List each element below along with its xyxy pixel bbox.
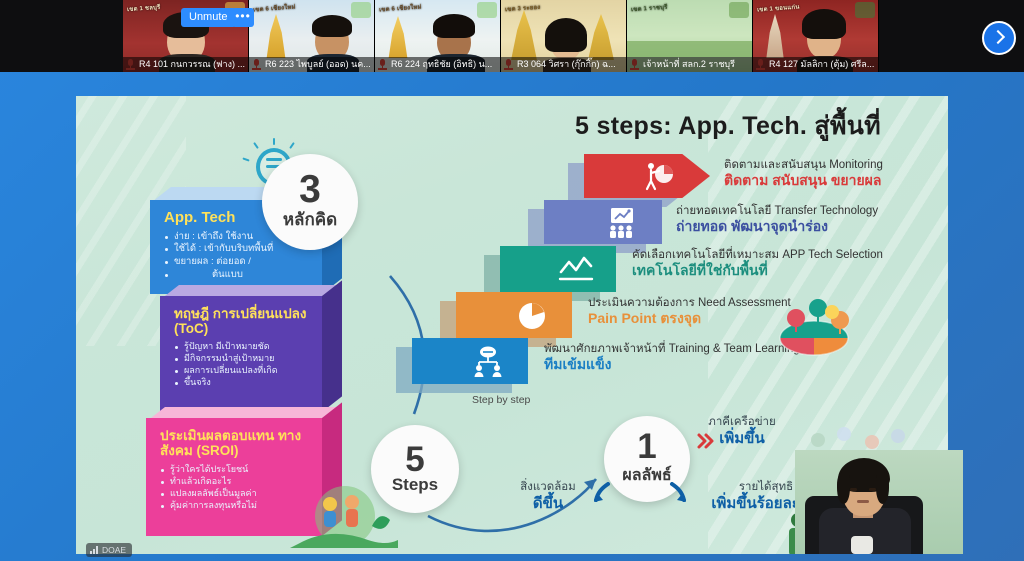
outcome-environment: สิ่งแวดล้อม ดีขึ้น	[500, 481, 596, 513]
outcome-line2: ดีขึ้น	[500, 495, 596, 513]
concept-box-title: ทฤษฎี การเปลี่ยนแปลง (ToC)	[174, 306, 312, 336]
banner-ornament-icon	[729, 2, 749, 18]
participant-name: R4 101 กนกวรรณ (ฟาง) ...	[123, 57, 248, 72]
speaker-mouth	[857, 500, 869, 503]
team-training-icon	[472, 345, 504, 377]
speaker-hair-left	[837, 472, 850, 504]
step-3-text: คัดเลือกเทคโนโลยีที่เหมาะสม APP Tech Sel…	[632, 248, 883, 280]
speaker-shirt	[851, 536, 873, 554]
participant-name: R6 224 ฤทธิชัย (อิทธิ) น...	[375, 57, 500, 72]
concept-box-toc: ทฤษฎี การเปลี่ยนแปลง (ToC) รู้ปัญหา มีเป…	[160, 296, 322, 412]
step-2-text: ประเมินความต้องการ Need Assessment Pain …	[588, 296, 791, 328]
participant-name: R3 064 วิศรา (กุ๊กกิ๊ก) ฉ...	[501, 57, 626, 72]
next-participants-button[interactable]	[982, 21, 1016, 55]
concept-box-item: ขึ้นจริง	[174, 377, 312, 388]
speaker-eye-right	[869, 488, 876, 491]
step-label-th: Pain Point ตรงจุด	[588, 310, 791, 328]
doae-watermark: DOAE	[86, 543, 132, 557]
step-4-block	[544, 200, 662, 244]
participant-tile[interactable]: เขต 6 เชียงใหม่ R6 223 ไพบูลย์ (ออด) นค.…	[249, 0, 375, 72]
concept-box-item: รู้ปัญหา มีเป้าหมายชัด	[174, 341, 312, 352]
speaker-hair-right	[876, 472, 889, 504]
signal-bars-icon	[90, 546, 99, 554]
circle-3-concepts: 3 หลักคิด	[262, 154, 358, 250]
step-5-block	[584, 154, 710, 198]
participant-hair	[433, 14, 475, 38]
active-speaker-video[interactable]	[795, 450, 963, 554]
double-chevron-right-icon	[696, 432, 716, 450]
more-options-button[interactable]: •••	[232, 8, 254, 27]
step-label-th: ถ่ายทอด พัฒนาจุดนำร่อง	[676, 218, 878, 236]
step-by-step-caption: Step by step	[472, 394, 530, 406]
environment-illustration	[290, 478, 400, 548]
landscape-graphic	[627, 41, 752, 57]
circle-number: 5	[405, 443, 424, 476]
participant-name: เจ้าหน้าที่ สลก.2 ราชบุรี	[627, 57, 752, 72]
pie-chart-icon	[516, 300, 548, 332]
participant-tile[interactable]: เขต 1 ราชบุรี เจ้าหน้าที่ สลก.2 ราชบุรี	[627, 0, 753, 72]
participant-hair	[312, 15, 352, 37]
participant-name: R4 127 มัลลิกา (ตุ้ม) ศรีล...	[753, 57, 878, 72]
participant-name: R6 223 ไพบูลย์ (ออด) นค...	[249, 57, 374, 72]
outcome-line1: สิ่งแวดล้อม	[500, 481, 596, 495]
arrow-down-right-icon	[668, 482, 688, 504]
step-label-th: เทคโนโลยีที่ใช่กับพื้นที่	[632, 262, 883, 280]
step-1-block	[412, 338, 528, 384]
step-5-text: ติดตามและสนับสนุน Monitoring ติดตาม สนับ…	[724, 158, 883, 190]
tech-selection-chart-icon	[558, 254, 594, 284]
step-label-th: ติดตาม สนับสนุน ขยายผล	[724, 172, 883, 190]
pie-illustration	[762, 282, 862, 362]
unmute-button[interactable]: Unmute	[181, 8, 236, 27]
participant-hair	[545, 18, 587, 52]
arrow-down-left-icon	[592, 482, 612, 504]
outcome-line1: ภาคีเครือข่าย	[694, 416, 790, 430]
step-2-block	[456, 292, 572, 338]
circle-label: หลักคิด	[283, 206, 337, 233]
step-label-en: ประเมินความต้องการ Need Assessment	[588, 296, 791, 310]
step-3-block	[500, 246, 616, 292]
monitoring-icon	[642, 159, 676, 193]
concept-box-item: ผลการเปลี่ยนแปลงที่เกิด	[174, 365, 312, 376]
banner-ornament-icon	[351, 2, 371, 18]
slide-title: 5 steps: App. Tech. สู่พื้นที่	[528, 106, 928, 146]
concept-box-item: มีกิจกรรมนำสู่เป้าหมาย	[174, 353, 312, 364]
concept-box-items: รู้ปัญหา มีเป้าหมายชัด มีกิจกรรมนำสู่เป้…	[174, 341, 312, 388]
concept-box-item: รู้ว่าใครได้ประโยชน์	[160, 464, 312, 475]
banner-ornament-icon	[477, 2, 497, 18]
step-label-en: ถ่ายทอดเทคโนโลยี Transfer Technology	[676, 204, 878, 218]
transfer-technology-icon	[606, 205, 640, 239]
concept-box-title: ประเมินผลตอบแทน ทางสังคม (SROI)	[160, 428, 312, 458]
step-label-en: ติดตามและสนับสนุน Monitoring	[724, 158, 883, 172]
participant-tile[interactable]: เขต 1 ขอนแก่น R4 127 มัลลิกา (ตุ้ม) ศรีล…	[753, 0, 879, 72]
zoom-meeting-window: เขต 1 ชลบุรี R4 101 กนกวรรณ (ฟาง) ... เข…	[0, 0, 1024, 561]
doae-label: DOAE	[102, 543, 126, 557]
participant-tile[interactable]: เขต 3 ระยอง R3 064 วิศรา (กุ๊กกิ๊ก) ฉ...	[501, 0, 627, 72]
circle-number: 1	[637, 430, 656, 463]
participant-hair	[802, 9, 846, 39]
circle-number: 3	[299, 171, 321, 208]
circle-label: ผลลัพธ์	[622, 463, 671, 488]
banner-ornament-icon	[855, 2, 875, 18]
concept-box-item: ขยายผล : ต่อยอด /	[164, 256, 312, 268]
step-4-text: ถ่ายทอดเทคโนโลยี Transfer Technology ถ่า…	[676, 204, 878, 236]
participant-tile[interactable]: เขต 6 เชียงใหม่ R6 224 ฤทธิชัย (อิทธิ) น…	[375, 0, 501, 72]
concept-box-item: ต้นแบบ	[164, 269, 312, 281]
participant-filmstrip[interactable]: เขต 1 ชลบุรี R4 101 กนกวรรณ (ฟาง) ... เข…	[0, 0, 1024, 72]
speaker-eye-left	[850, 488, 857, 491]
step-label-en: คัดเลือกเทคโนโลยีที่เหมาะสม APP Tech Sel…	[632, 248, 883, 262]
